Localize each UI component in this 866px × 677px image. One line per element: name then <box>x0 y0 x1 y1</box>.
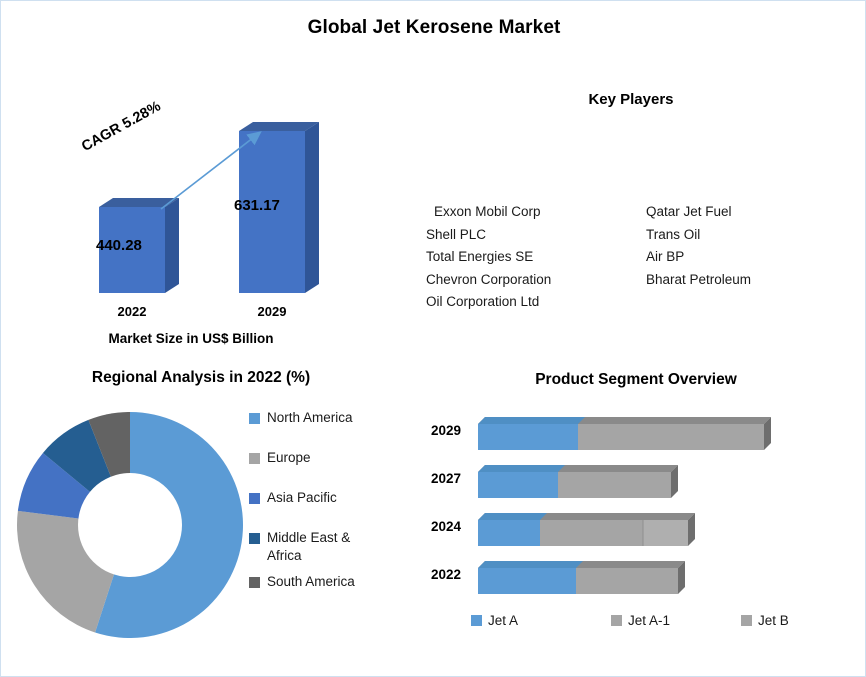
donut-svg <box>14 409 246 641</box>
page-title: Global Jet Kerosene Market <box>1 17 866 39</box>
product-segment-bar-2027 <box>478 465 858 501</box>
key-player-item: Exxon Mobil Corp <box>426 201 551 224</box>
key-players-left-column: Exxon Mobil Corp Shell PLC Total Energie… <box>426 201 551 314</box>
legend-label: North America <box>267 409 353 427</box>
key-player-item: Trans Oil <box>646 224 751 247</box>
product-segment-bar-2029 <box>478 417 858 453</box>
legend-swatch-icon <box>249 533 260 544</box>
regional-analysis-title: Regional Analysis in 2022 (%) <box>11 369 391 387</box>
product-segment-bar-2024 <box>478 513 858 549</box>
product-segment-title: Product Segment Overview <box>441 371 831 389</box>
legend-item-jet-a1: Jet A-1 <box>611 613 741 628</box>
product-segment-year-2027: 2027 <box>419 471 461 486</box>
regional-analysis-donut <box>14 409 246 641</box>
product-segment-year-2024: 2024 <box>419 519 461 534</box>
legend-swatch-icon <box>471 615 482 626</box>
key-players-title: Key Players <box>471 91 791 108</box>
market-size-chart: 440.28 2022 631.17 2029 <box>71 119 391 359</box>
product-segment-year-2029: 2029 <box>419 423 461 438</box>
legend-label: Jet A <box>488 613 518 628</box>
product-segment-legend: Jet A Jet A-1 Jet B <box>471 613 851 628</box>
key-player-item: Total Energies SE <box>426 246 551 269</box>
regional-analysis-legend: North America Europe Asia Pacific Middle… <box>249 409 399 613</box>
legend-swatch-icon <box>249 493 260 504</box>
legend-label: Asia Pacific <box>267 489 337 507</box>
legend-label: Jet A-1 <box>628 613 670 628</box>
legend-item-asia-pacific: Asia Pacific <box>249 489 399 507</box>
key-player-item: Air BP <box>646 246 751 269</box>
key-player-item: Oil Corporation Ltd <box>426 291 551 314</box>
market-size-caption: Market Size in US$ Billion <box>61 331 321 346</box>
legend-swatch-icon <box>249 453 260 464</box>
infographic-page: Global Jet Kerosene Market 440.28 2022 6… <box>0 0 866 677</box>
legend-item-south-america: South America <box>249 573 399 591</box>
legend-swatch-icon <box>741 615 752 626</box>
market-size-year-2029: 2029 <box>237 304 307 319</box>
product-segment-bar-2022 <box>478 561 858 597</box>
legend-label: South America <box>267 573 355 591</box>
legend-swatch-icon <box>611 615 622 626</box>
key-player-item: Shell PLC <box>426 224 551 247</box>
legend-label: Middle East & Africa <box>267 529 382 565</box>
legend-label: Jet B <box>758 613 789 628</box>
legend-item-middle-east-africa: Middle East & Africa <box>249 529 399 565</box>
key-players-right-column: Qatar Jet Fuel Trans Oil Air BP Bharat P… <box>646 201 751 291</box>
key-player-item: Qatar Jet Fuel <box>646 201 751 224</box>
product-segment-year-2022: 2022 <box>419 567 461 582</box>
legend-swatch-icon <box>249 577 260 588</box>
key-player-item: Bharat Petroleum <box>646 269 751 292</box>
key-player-item: Chevron Corporation <box>426 269 551 292</box>
cagr-arrow-icon <box>93 119 293 229</box>
market-size-year-2022: 2022 <box>97 304 167 319</box>
legend-label: Europe <box>267 449 311 467</box>
market-size-value-2022: 440.28 <box>96 237 142 254</box>
legend-item-europe: Europe <box>249 449 399 467</box>
legend-item-jet-a: Jet A <box>471 613 611 628</box>
legend-item-north-america: North America <box>249 409 399 427</box>
legend-swatch-icon <box>249 413 260 424</box>
legend-item-jet-b: Jet B <box>741 613 789 628</box>
